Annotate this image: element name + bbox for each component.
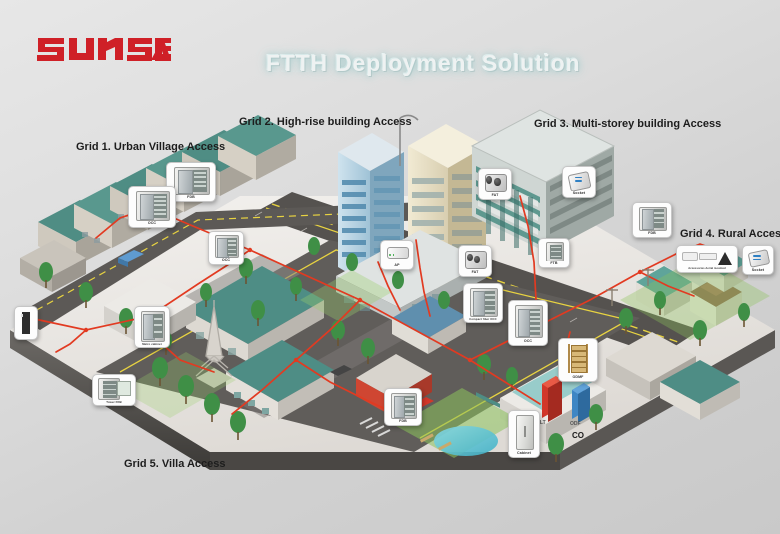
ap-art [383, 243, 411, 263]
callout-fdb-rural[interactable]: FDB [632, 202, 672, 238]
callout-caption: Tower FDB [106, 401, 121, 404]
callout-caption: FAT [472, 271, 479, 275]
callout-caption: FDB [187, 196, 195, 200]
occ-street-art [211, 234, 241, 258]
occ-village-art [131, 189, 173, 221]
callout-caption: Socket [573, 192, 585, 196]
callout-caption: Compact fiber OCC [469, 318, 497, 321]
cabinet-art [511, 413, 537, 451]
fdb-rural-art [635, 205, 669, 231]
callout-caption: ODMF [573, 376, 584, 380]
callout-metro-cabinet[interactable]: Metro cabinet [134, 306, 170, 348]
grid-label-rural: Grid 4. Rural Access [680, 228, 780, 240]
callout-caption: OCC [524, 340, 532, 344]
fdb-villa-art [387, 391, 419, 419]
callout-occ-village[interactable]: OCC [128, 186, 176, 228]
callout-fdb-villa[interactable]: FDB [384, 388, 422, 426]
callout-caption: Cabinet [517, 452, 531, 456]
callout-caption: FDB [399, 420, 407, 424]
odf-label: ODF [570, 421, 581, 427]
grid-label-villa: Grid 5. Villa Access [124, 458, 226, 470]
callout-caption: OCC [148, 222, 156, 226]
socket-rural-art [745, 248, 771, 268]
co-label: CO [572, 431, 584, 440]
callout-fat-multi[interactable]: FAT [478, 168, 512, 200]
ftth-diagram-canvas: FTTH Deployment Solution FTTH Deployment… [0, 0, 780, 534]
socket-multi-art [565, 169, 593, 191]
callout-compact-occ[interactable]: Compact fiber OCC [463, 283, 503, 323]
callout-cabinet[interactable]: Cabinet [508, 410, 540, 458]
occ-mid-art [511, 303, 545, 339]
sunsea-logo [36, 30, 171, 64]
callout-ftb-multi[interactable]: FTB [538, 238, 570, 268]
callout-accessories-aerial[interactable]: Accessories Aerial mounted [676, 245, 738, 273]
grid-label-urban-village: Grid 1. Urban Village Access [76, 141, 225, 153]
callout-ap-highrise[interactable]: AP [380, 240, 414, 270]
callout-caption: FAT [492, 194, 499, 198]
callout-occ-street[interactable]: OCC [208, 231, 244, 265]
left-edge-device-art [17, 309, 35, 338]
callout-fat-highrise[interactable]: FAT [458, 245, 492, 277]
fat-multi-art [481, 171, 509, 193]
callout-caption: Socket [752, 269, 764, 273]
callout-caption: OCC [222, 259, 230, 263]
callout-socket-multi[interactable]: Socket [562, 166, 596, 198]
ftb-art [541, 241, 567, 261]
compact-occ-art [466, 286, 500, 317]
callout-caption: FTB [550, 262, 557, 266]
callout-odmf[interactable]: ODMF [558, 338, 598, 382]
callout-tower-fdb[interactable]: Tower FDB [92, 374, 136, 406]
callout-caption: FDB [648, 232, 656, 236]
callout-occ-mid[interactable]: OCC [508, 300, 548, 346]
page-title: FTTH Deployment Solution [266, 50, 580, 77]
callout-caption: AP [394, 264, 399, 268]
callout-left-edge-device[interactable] [14, 306, 38, 340]
grid-label-high-rise: Grid 2. High-rise building Access [239, 116, 412, 128]
metro-cabinet-art [137, 309, 167, 342]
callout-caption: Accessories Aerial mounted [688, 268, 725, 271]
tower-fdb-art [95, 377, 133, 400]
callout-caption: Metro cabinet [142, 343, 161, 346]
aerial-accessories-art [679, 248, 735, 267]
fat-highrise-art [461, 248, 489, 270]
grid-label-multi-storey: Grid 3. Multi-storey building Access [534, 118, 721, 130]
odmf-art [561, 341, 595, 375]
callout-socket-rural[interactable]: Socket [742, 245, 774, 275]
